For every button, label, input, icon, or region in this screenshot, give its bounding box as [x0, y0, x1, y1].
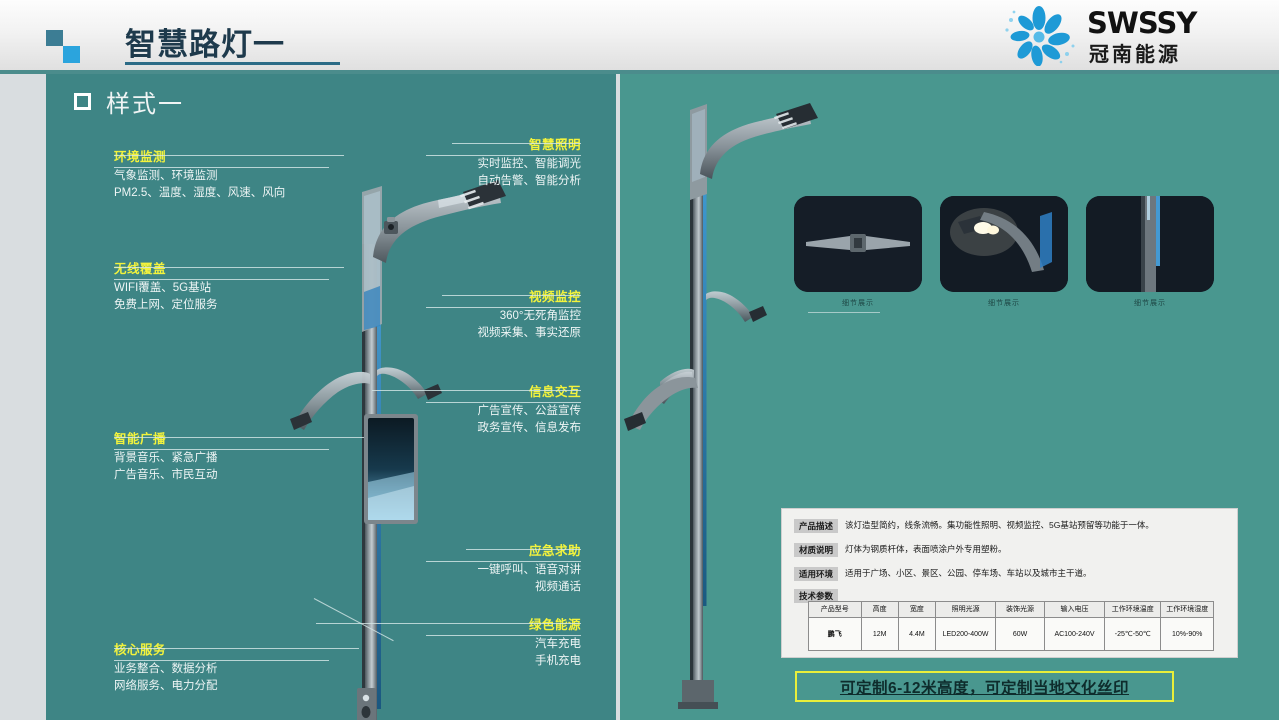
spec-tag: 材质说明 [794, 543, 838, 557]
spec-tag: 产品描述 [794, 519, 838, 533]
brand-subtitle: 冠南能源 [1089, 38, 1181, 67]
callout-rule [114, 660, 329, 661]
callout-line: 广告宣传、公益宣传 [426, 403, 581, 420]
table-header-cell: 照明光源 [936, 602, 996, 618]
callout-line: 免费上网、定位服务 [114, 297, 329, 314]
title-underline [125, 62, 340, 65]
spec-card: 产品描述 该灯造型简约，线条流畅。集功能性照明、视频监控、5G基站预留等功能于一… [781, 508, 1238, 658]
callout-rule [426, 635, 581, 636]
leader-line [372, 390, 581, 391]
callout-line: WIFI覆盖、5G基站 [114, 280, 329, 297]
callout-rule [426, 307, 581, 308]
detail-photo-0[interactable] [794, 196, 922, 292]
table-cell: 10%-90% [1161, 618, 1214, 651]
leader-line [114, 648, 359, 649]
table-header-cell: 产品型号 [809, 602, 862, 618]
caption-underline [808, 312, 880, 313]
callout-line: 360°无死角监控 [426, 308, 581, 325]
callout-line: 视频通话 [426, 579, 581, 596]
table-cell: LED200-400W [936, 618, 996, 651]
page-title: 智慧路灯一 [125, 19, 285, 64]
callout-line: 实时监控、智能调光 [426, 156, 581, 173]
table-header-cell: 装饰光源 [996, 602, 1045, 618]
brand-name: SWSSY [1087, 6, 1196, 40]
callout-line: 业务整合、数据分析 [114, 661, 329, 678]
table-header-cell: 工作环境湿度 [1161, 602, 1214, 618]
spec-row-1: 材质说明 灯体为钢质杆体，表面喷涂户外专用塑粉。 [794, 543, 1007, 557]
table-header-row: 产品型号 高度 宽度 照明光源 装饰光源 输入电压 工作环境温度 工作环境湿度 [809, 602, 1214, 618]
table-cell: 60W [996, 618, 1045, 651]
table-header-cell: 宽度 [898, 602, 935, 618]
header-squares-icon [46, 30, 82, 64]
detail-photo-caption: 细节展示 [794, 298, 922, 308]
callout-line: 背景音乐、紧急广播 [114, 450, 329, 467]
spec-text: 适用于广场、小区、景区、公园、停车场、车站以及城市主干道。 [845, 567, 1092, 579]
water-drop-flower-icon [1001, 6, 1077, 66]
spec-text: 灯体为钢质杆体，表面喷涂户外专用塑粉。 [845, 543, 1007, 555]
slide-header: 智慧路灯一 [0, 0, 1279, 72]
customization-banner-text: 可定制6-12米高度，可定制当地文化丝印 [840, 676, 1129, 698]
table-cell: 12M [861, 618, 898, 651]
callout-line: 手机充电 [426, 653, 581, 670]
brand-block: SWSSY 冠南能源 [1001, 4, 1261, 68]
table-row: 鹏飞 12M 4.4M LED200-400W 60W AC100-240V -… [809, 618, 1214, 651]
customization-banner: 可定制6-12米高度，可定制当地文化丝印 [795, 671, 1174, 702]
callout-rule [426, 561, 581, 562]
leader-line [114, 437, 364, 438]
callout-line: 汽车充电 [426, 636, 581, 653]
detail-photo-2[interactable] [1086, 196, 1214, 292]
leader-line [316, 623, 581, 624]
callout-rule [426, 155, 581, 156]
slide-root: 智慧路灯一 [0, 0, 1279, 720]
callout-rule [114, 167, 329, 168]
callout-line: 自动告警、智能分析 [426, 173, 581, 190]
table-cell: 鹏飞 [809, 618, 862, 651]
leader-line [442, 295, 581, 296]
detail-photo-caption: 细节展示 [1086, 298, 1214, 308]
callout-line: 网络服务、电力分配 [114, 678, 329, 695]
table-header-cell: 工作环境温度 [1105, 602, 1161, 618]
leader-line [452, 143, 581, 144]
left-diagram-panel: 样式一 [46, 74, 616, 720]
callout-line: 政务宣传、信息发布 [426, 420, 581, 437]
table-cell: AC100-240V [1044, 618, 1104, 651]
leader-line [466, 549, 581, 550]
callout-line: 视频采集、事实还原 [426, 325, 581, 342]
spec-row-2: 适用环境 适用于广场、小区、景区、公园、停车场、车站以及城市主干道。 [794, 567, 1092, 581]
detail-photo-caption: 细节展示 [940, 298, 1068, 308]
slide-body: 样式一 [0, 74, 1279, 720]
leader-line [114, 267, 344, 268]
detail-photo-1[interactable] [940, 196, 1068, 292]
callout-rule [114, 279, 329, 280]
leader-line [114, 155, 344, 156]
spec-text: 该灯造型简约，线条流畅。集功能性照明、视频监控、5G基站预留等功能于一体。 [845, 519, 1154, 531]
spec-tag: 适用环境 [794, 567, 838, 581]
callout-rule [114, 449, 329, 450]
callout-line: 气象监测、环境监测 [114, 168, 329, 185]
table-header-cell: 高度 [861, 602, 898, 618]
spec-table: 产品型号 高度 宽度 照明光源 装饰光源 输入电压 工作环境温度 工作环境湿度 … [808, 601, 1214, 651]
product-render-lower-arm [620, 364, 760, 444]
table-header-cell: 输入电压 [1044, 602, 1104, 618]
table-cell: -25℃-50℃ [1105, 618, 1161, 651]
callout-line: 一键呼叫、语音对讲 [426, 562, 581, 579]
callout-line: PM2.5、温度、湿度、风速、风向 [114, 185, 329, 202]
callout-rule [426, 402, 581, 403]
callout-line: 广告音乐、市民互动 [114, 467, 329, 484]
spec-row-0: 产品描述 该灯造型简约，线条流畅。集功能性照明、视频监控、5G基站预留等功能于一… [794, 519, 1154, 533]
table-cell: 4.4M [898, 618, 935, 651]
